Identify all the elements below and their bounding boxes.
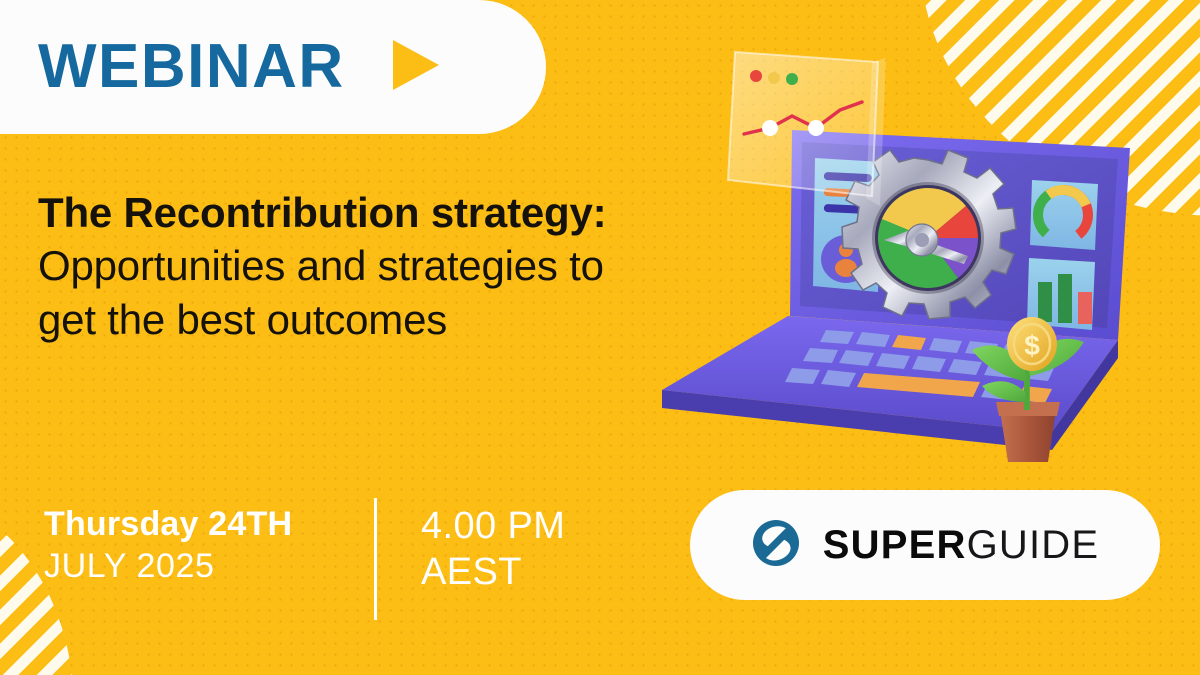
logo-guide-text: GUIDE	[967, 523, 1100, 567]
laptop-illustration: $	[640, 10, 1180, 480]
event-datetime: Thursday 24TH JULY 2025 4.00 PM AEST	[44, 498, 565, 620]
superguide-logo: SUPERGUIDE	[690, 490, 1160, 600]
play-triangle-icon	[387, 36, 443, 99]
event-time-column: 4.00 PM AEST	[421, 498, 565, 595]
webinar-badge: WEBINAR	[0, 0, 546, 134]
svg-text:$: $	[1024, 330, 1040, 361]
event-date-column: Thursday 24TH JULY 2025	[44, 498, 374, 588]
event-day: Thursday 24TH	[44, 504, 374, 545]
floating-glass-card	[728, 52, 886, 206]
vertical-divider	[374, 498, 377, 620]
page-title: The Recontribution strategy: Opportuniti…	[38, 186, 628, 346]
headline-bold: The Recontribution strategy:	[38, 189, 606, 236]
dollar-coin: $	[1007, 317, 1057, 371]
superguide-wordmark: SUPERGUIDE	[823, 525, 1100, 565]
poster-canvas: $ WEBINAR The Recontribution strategy: O…	[0, 0, 1200, 675]
event-timezone: AEST	[421, 550, 565, 596]
event-time: 4.00 PM	[421, 504, 565, 550]
event-month-year: JULY 2025	[44, 545, 374, 588]
webinar-label: WEBINAR	[38, 36, 345, 98]
donut-chart-card	[1028, 180, 1099, 251]
logo-super-text: SUPER	[823, 523, 967, 567]
headline-regular: Opportunities and strategies to get the …	[38, 242, 604, 342]
superguide-s-mark-icon	[751, 518, 801, 573]
